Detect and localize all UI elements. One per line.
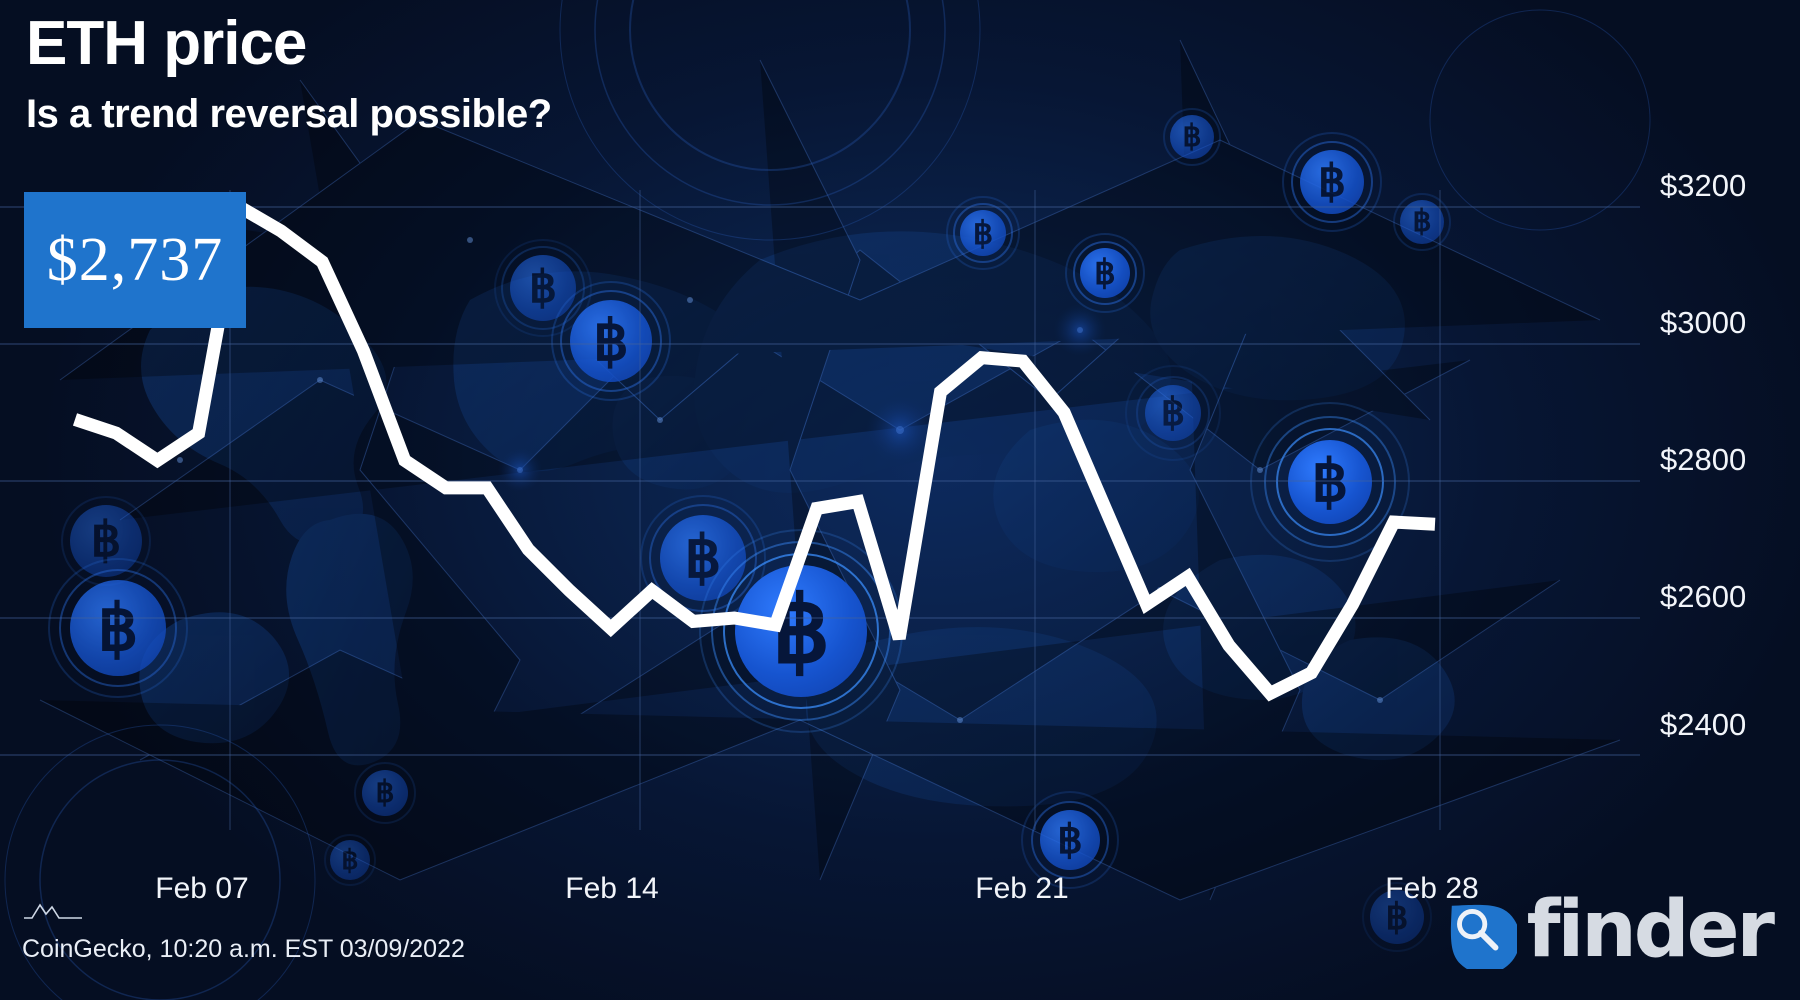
y-axis-tick: $3000: [1660, 305, 1746, 341]
page-title: ETH price: [26, 8, 306, 79]
x-axis-tick: Feb 14: [565, 872, 658, 906]
infographic-canvas: ฿ ฿ ฿ ฿ ฿ ฿ ฿ ฿: [0, 0, 1800, 1000]
horizontal-gridlines: [0, 207, 1640, 755]
y-axis-tick: $3200: [1660, 168, 1746, 204]
current-price-value: $2,737: [47, 225, 224, 296]
price-chart: $3200 $3000 $2800 $2600 $2400 Feb 07 Feb…: [0, 0, 1800, 1000]
current-price-badge: $2,737: [24, 192, 246, 328]
mountain-line-icon: [22, 900, 84, 920]
y-axis-tick: $2400: [1660, 707, 1746, 743]
source-attribution: CoinGecko, 10:20 a.m. EST 03/09/2022: [22, 935, 465, 964]
finder-logo[interactable]: finder: [1439, 884, 1772, 976]
price-line: [75, 207, 1435, 693]
y-axis-tick: $2800: [1660, 442, 1746, 478]
y-axis-tick: $2600: [1660, 579, 1746, 615]
finder-wordmark: finder: [1527, 891, 1772, 969]
x-axis-tick: Feb 21: [975, 872, 1068, 906]
magnifier-droplet-icon: [1439, 891, 1517, 969]
page-subtitle: Is a trend reversal possible?: [26, 92, 552, 137]
x-axis-tick: Feb 07: [155, 872, 248, 906]
